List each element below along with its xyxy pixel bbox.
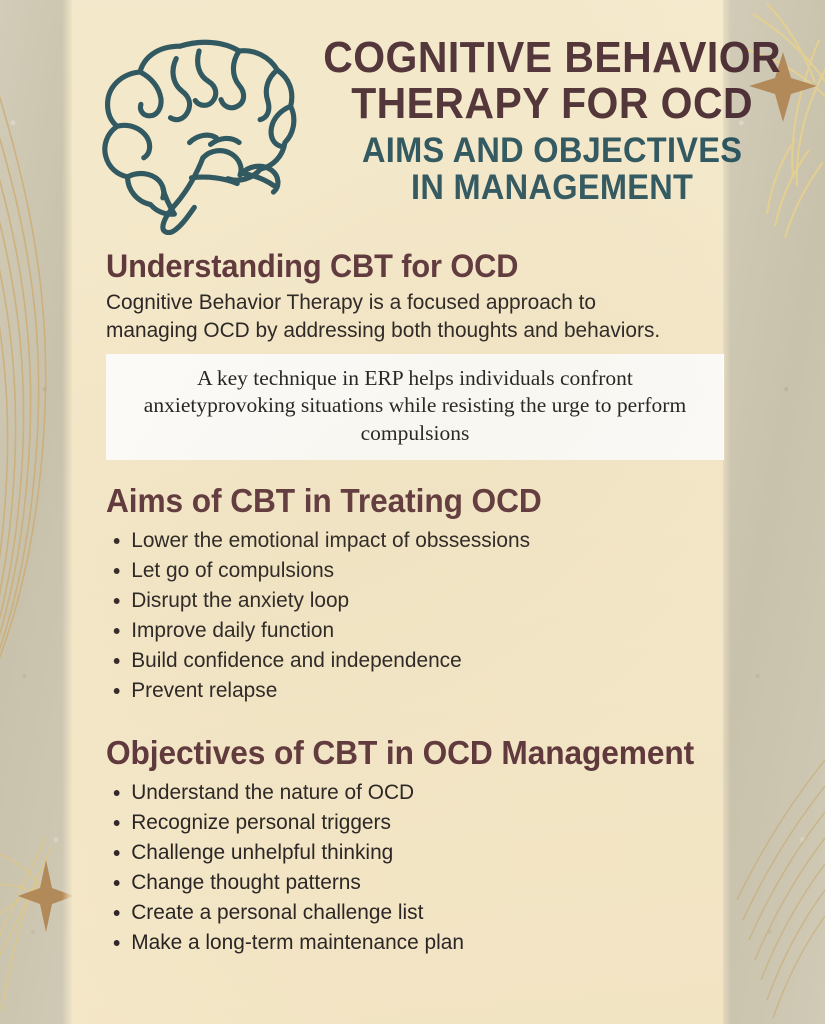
list-item: Change thought patterns bbox=[106, 868, 693, 898]
list-item: Disrupt the anxiety loop bbox=[106, 586, 693, 616]
list-item: Lower the emotional impact of obssession… bbox=[106, 526, 693, 556]
list-item: Recognize personal triggers bbox=[106, 808, 693, 838]
main-panel: COGNITIVE BEHAVIOR THERAPY FOR OCD AIMS … bbox=[72, 0, 723, 1024]
poster-header: COGNITIVE BEHAVIOR THERAPY FOR OCD AIMS … bbox=[72, 0, 723, 248]
objectives-list: Understand the nature of OCD Recognize p… bbox=[106, 778, 711, 958]
list-item: Prevent relapse bbox=[106, 676, 693, 706]
list-item: Build confidence and independence bbox=[106, 646, 693, 676]
section-heading-aims: Aims of CBT in Treating OCD bbox=[106, 482, 687, 520]
intro-paragraph-line2: managing OCD by addressing both thoughts… bbox=[106, 317, 693, 345]
poster-subtitle-line2: IN MANAGEMENT bbox=[323, 169, 781, 206]
poster-content: Understanding CBT for OCD Cognitive Beha… bbox=[72, 248, 723, 958]
left-edge-feather bbox=[62, 0, 72, 1024]
left-decorative-border bbox=[0, 0, 72, 1024]
list-item: Make a long-term maintenance plan bbox=[106, 928, 693, 958]
section-heading-objectives: Objectives of CBT in OCD Management bbox=[106, 734, 687, 772]
list-item: Understand the nature of OCD bbox=[106, 778, 693, 808]
intro-paragraph-line1: Cognitive Behavior Therapy is a focused … bbox=[106, 289, 693, 317]
callout-box: A key technique in ERP helps individuals… bbox=[106, 354, 724, 461]
section-heading-understanding: Understanding CBT for OCD bbox=[106, 248, 687, 285]
poster-subtitle-line1: AIMS AND OBJECTIVES bbox=[323, 132, 781, 169]
list-item: Improve daily function bbox=[106, 616, 693, 646]
list-item: Create a personal challenge list bbox=[106, 898, 693, 928]
list-item: Let go of compulsions bbox=[106, 556, 693, 586]
brain-icon bbox=[96, 22, 306, 235]
infographic-poster: COGNITIVE BEHAVIOR THERAPY FOR OCD AIMS … bbox=[0, 0, 825, 1024]
poster-title-line1: COGNITIVE BEHAVIOR bbox=[323, 36, 781, 80]
poster-title-line2: THERAPY FOR OCD bbox=[323, 82, 781, 126]
list-item: Challenge unhelpful thinking bbox=[106, 838, 693, 868]
title-block: COGNITIVE BEHAVIOR THERAPY FOR OCD AIMS … bbox=[306, 22, 802, 206]
aims-list: Lower the emotional impact of obssession… bbox=[106, 526, 711, 706]
